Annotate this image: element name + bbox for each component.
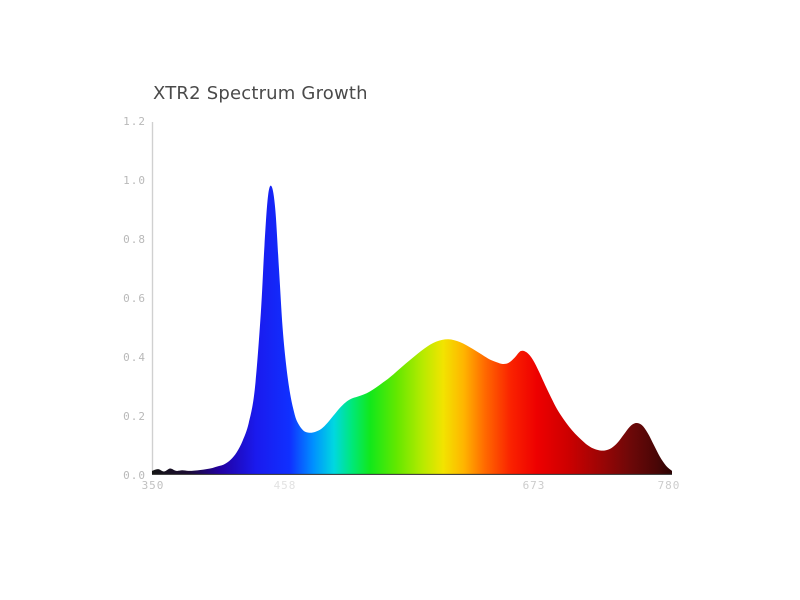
- xtick-label: 350: [123, 479, 183, 492]
- xtick-label: 673: [504, 479, 564, 492]
- spectrum-chart-figure: XTR2 Spectrum Growth: [0, 0, 800, 600]
- ytick-label: 0.8: [106, 233, 146, 246]
- xtick-label: 458: [255, 479, 315, 492]
- ytick-label: 0.2: [106, 410, 146, 423]
- spectrum-curve-area: [152, 186, 672, 475]
- ytick-label: 0.6: [106, 292, 146, 305]
- ytick-label: 1.0: [106, 174, 146, 187]
- ytick-label: 0.4: [106, 351, 146, 364]
- ytick-label: 1.2: [106, 115, 146, 128]
- xtick-label: 780: [639, 479, 699, 492]
